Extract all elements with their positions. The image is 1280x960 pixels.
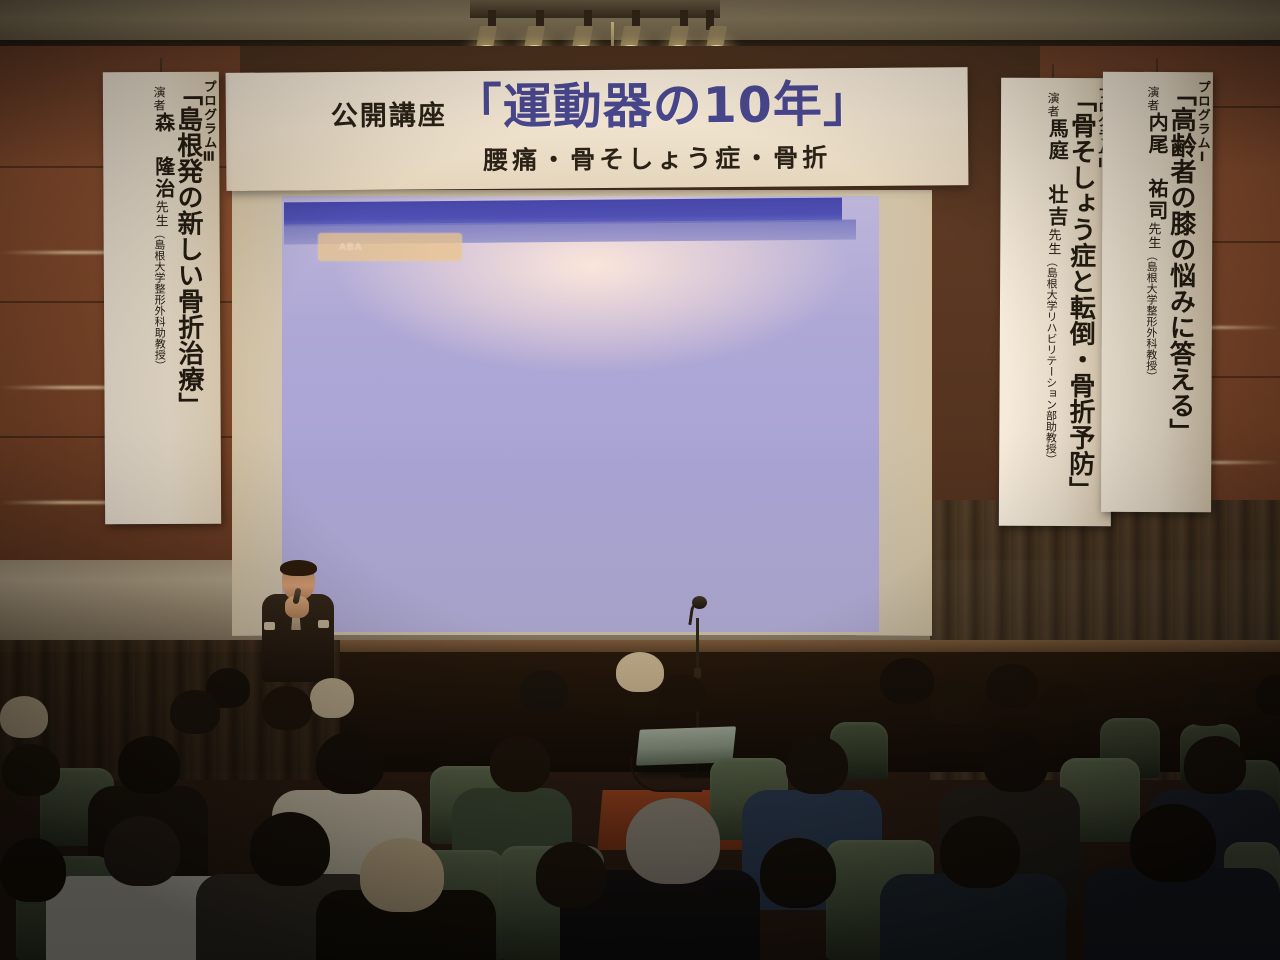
audience-head <box>0 838 66 902</box>
program-1-affiliation: （島根大学整形外科教授） <box>1145 250 1157 382</box>
banner-subtitle: 腰痛・骨そしょう症・骨折 <box>363 138 831 178</box>
projection-screen-surface <box>282 196 879 632</box>
audience-head <box>310 678 354 718</box>
audience-head <box>1256 674 1280 716</box>
audience-head <box>360 838 444 912</box>
presenter-cuff-right <box>318 620 329 628</box>
audience-head <box>536 842 606 908</box>
audience-head <box>0 696 48 738</box>
audience-head <box>660 674 706 714</box>
audience-head <box>316 732 384 794</box>
program-2-speaker-label: 演者 <box>1047 92 1060 118</box>
presenter-hair <box>280 560 317 576</box>
program-2-speaker-name: 馬庭 壮吉 <box>1046 118 1067 228</box>
audience-head <box>1182 682 1232 726</box>
program-3-speaker-label: 演者 <box>153 86 166 112</box>
audience-head <box>880 658 934 704</box>
audience-head <box>250 812 330 886</box>
banner-cord <box>1052 64 1054 78</box>
audience-head <box>1040 684 1088 726</box>
audience-head <box>760 838 836 908</box>
banner-prefix: 公開講座 <box>331 93 447 133</box>
program-2-affiliation: （島根大学リハビリテーション部助教授） <box>1045 256 1058 465</box>
program-3-speaker-name: 森 隆治 <box>153 112 174 200</box>
audience-head <box>104 816 180 886</box>
audience-head <box>616 652 664 692</box>
audience-head <box>626 798 720 884</box>
banner-cord <box>1156 58 1158 72</box>
program-3-label: プログラムⅢ <box>201 80 217 514</box>
program-1-honorific: 先生 <box>1146 222 1160 250</box>
audience-head <box>520 670 568 712</box>
audience-area <box>0 640 1280 960</box>
audience-head <box>786 736 848 794</box>
program-2-honorific: 先生 <box>1046 228 1060 256</box>
program-3-affiliation: （島根大学整形外科助教授） <box>153 228 165 371</box>
program-banner-3: プログラムⅢ 「島根発の新しい骨折治療」 演者 森 隆治 先生 （島根大学整形外… <box>103 72 221 525</box>
audience-head <box>1130 804 1216 882</box>
audience-head <box>984 732 1048 792</box>
program-1-speaker-name: 内尾 祐司 <box>1146 112 1167 222</box>
audience-head <box>490 736 550 792</box>
audience-head <box>2 744 60 796</box>
presenter-cuff-left <box>264 622 275 630</box>
slide-label: ABA <box>318 233 462 261</box>
program-3-title: 「島根発の新しい骨折治療」 <box>173 80 202 514</box>
program-1-speaker-label: 演者 <box>1146 86 1159 112</box>
audience-head <box>930 680 980 724</box>
audience-head <box>986 664 1038 708</box>
main-event-banner: 公開講座 「運動器の10年」 腰痛・骨そしょう症・骨折 <box>226 67 969 191</box>
audience-head <box>170 690 220 734</box>
program-banner-2: プログラムⅡ 「骨そしょう症と転倒・骨折予防」 演者 馬庭 壮吉 先生 （島根大… <box>999 78 1113 527</box>
audience-head <box>940 816 1020 888</box>
microphone-icon <box>692 596 707 609</box>
program-1-label: プログラムⅠ <box>1194 80 1209 502</box>
banner-cord <box>160 58 162 72</box>
audience-head <box>1184 736 1246 794</box>
program-2-title: 「骨そしょう症と転倒・骨折予防」 <box>1065 86 1094 516</box>
audience-head <box>118 736 180 794</box>
program-banner-1: プログラムⅠ 「高齢者の膝の悩みに答える」 演者 内尾 祐司 先生 （島根大学整… <box>1101 72 1213 512</box>
program-3-honorific: 先生 <box>153 200 167 228</box>
audience-head <box>262 686 312 730</box>
banner-title: 「運動器の10年」 <box>453 80 874 132</box>
auditorium-photo: ABA 公開講座 「運動器の10年」 腰痛・骨そしょう症・骨折 プログラムⅢ 「… <box>0 0 1280 960</box>
program-1-title: 「高齢者の膝の悩みに答える」 <box>1166 80 1195 502</box>
